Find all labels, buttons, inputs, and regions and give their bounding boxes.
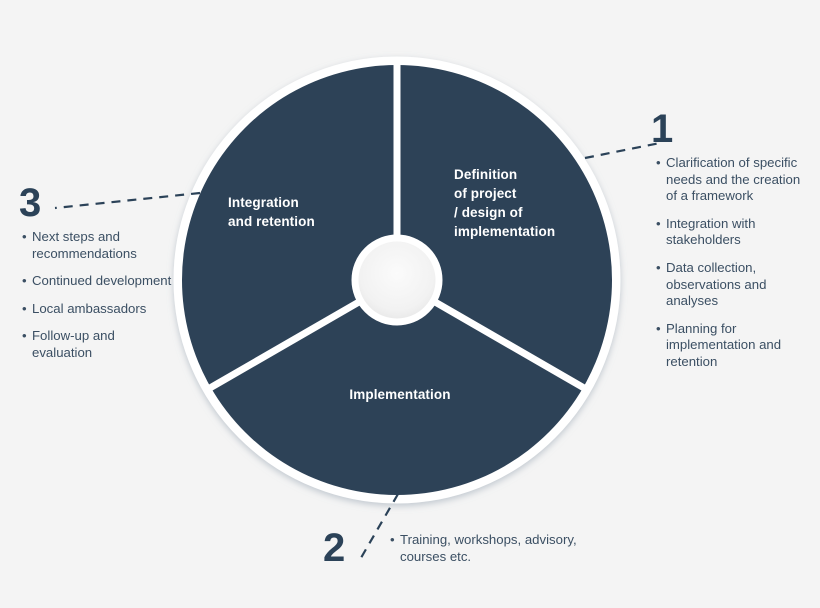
divider-lower-left — [206, 301, 360, 390]
bullet-dot-icon: • — [390, 532, 395, 549]
list-item: •Planning for implementation and retenti… — [656, 321, 808, 371]
callout-number-1: 1 — [651, 109, 673, 149]
wedge-label-integration-and-retention: Integration and retention — [228, 193, 388, 231]
list-item: •Follow-up and evaluation — [22, 328, 177, 361]
bullet-dot-icon: • — [656, 155, 661, 172]
list-item-label: Next steps and recommendations — [32, 229, 137, 261]
wedge-label-line: implementation — [454, 222, 594, 241]
bullet-dot-icon: • — [22, 301, 27, 318]
leader-line-1 — [585, 143, 660, 158]
list-item-label: Training, workshops, advisory, courses e… — [400, 532, 577, 564]
list-item-label: Data collection, observations and analys… — [666, 260, 766, 308]
wedge-label-line: and retention — [228, 212, 388, 231]
bullet-dot-icon: • — [656, 321, 661, 338]
leader-line-3 — [55, 193, 200, 208]
bullet-dot-icon: • — [22, 229, 27, 246]
bullet-dot-icon: • — [656, 216, 661, 233]
wedge-label-line: Integration — [228, 193, 388, 212]
list-item-label: Integration with stakeholders — [666, 216, 755, 248]
list-item: •Training, workshops, advisory, courses … — [390, 532, 590, 565]
diagram-canvas: Definition of project / design of implem… — [0, 0, 820, 608]
wedge-label-line: Definition — [454, 165, 594, 184]
outer-ring — [178, 61, 616, 499]
divider-lower-right — [433, 301, 587, 390]
list-item: •Data collection, observations and analy… — [656, 260, 808, 310]
list-item: •Clarification of specific needs and the… — [656, 155, 808, 205]
list-item: •Integration with stakeholders — [656, 216, 808, 249]
wedge-label-implementation: Implementation — [300, 385, 500, 404]
bullet-dot-icon: • — [22, 328, 27, 345]
list-item-label: Local ambassadors — [32, 301, 146, 316]
callout-bullets-3: •Next steps and recommendations•Continue… — [22, 229, 177, 362]
wedge-label-definition-of-project: Definition of project / design of implem… — [454, 165, 594, 241]
callout-number-2: 2 — [323, 528, 345, 568]
callout-bullets-1: •Clarification of specific needs and the… — [656, 155, 808, 371]
list-item: •Continued development — [22, 273, 177, 290]
list-item: •Local ambassadors — [22, 301, 177, 318]
list-item-label: Follow-up and evaluation — [32, 328, 115, 360]
bullet-dot-icon: • — [22, 273, 27, 290]
list-item-label: Continued development — [32, 273, 171, 288]
bullet-dot-icon: • — [656, 260, 661, 277]
list-item-label: Clarification of specific needs and the … — [666, 155, 800, 203]
wedge-group — [182, 65, 612, 495]
wedge-label-line: / design of — [454, 203, 594, 222]
callout-number-3: 3 — [19, 183, 41, 223]
donut-hole — [355, 238, 439, 322]
wedge-label-line: of project — [454, 184, 594, 203]
list-item: •Next steps and recommendations — [22, 229, 177, 262]
callout-bullets-2: •Training, workshops, advisory, courses … — [390, 532, 590, 565]
list-item-label: Planning for implementation and retentio… — [666, 321, 781, 369]
wedge-label-line: Implementation — [300, 385, 500, 404]
